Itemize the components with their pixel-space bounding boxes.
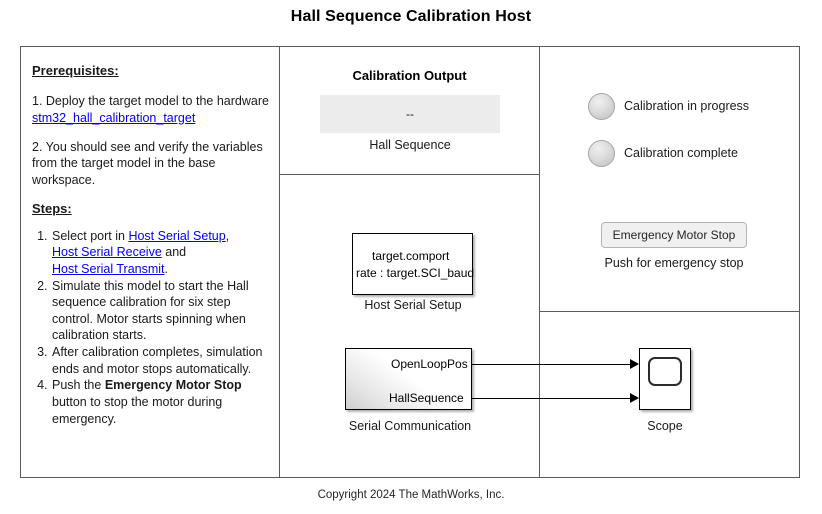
serial-communication-port-hallsequence: HallSequence bbox=[389, 391, 464, 405]
lamp-calibration-complete-label: Calibration complete bbox=[624, 146, 738, 160]
host-serial-setup-link[interactable]: Host Serial Setup bbox=[128, 229, 225, 243]
serial-communication-port-openloop: OpenLoopPos bbox=[391, 357, 468, 371]
lamp-calibration-in-progress bbox=[588, 93, 615, 120]
host-serial-transmit-link[interactable]: Host Serial Transmit bbox=[52, 262, 165, 276]
steps-heading: Steps: bbox=[32, 200, 72, 217]
signal-line-openloop bbox=[472, 364, 631, 365]
host-serial-setup-port-text: target.comport bbox=[372, 249, 449, 263]
signal-arrow-hallsequence-icon bbox=[630, 393, 639, 403]
target-model-link[interactable]: stm32_hall_calibration_target bbox=[32, 111, 195, 125]
serial-communication-label: Serial Communication bbox=[330, 419, 490, 433]
instructions-panel: Prerequisites: 1. Deploy the target mode… bbox=[32, 62, 270, 427]
prerequisite-item-2: 2. You should see and verify the variabl… bbox=[32, 139, 270, 189]
calibration-host-canvas: Hall Sequence Calibration Host Prerequis… bbox=[0, 0, 822, 514]
lamp-calibration-in-progress-label: Calibration in progress bbox=[624, 99, 749, 113]
prerequisite-item-1: 1. Deploy the target model to the hardwa… bbox=[32, 93, 270, 126]
right-panel-divider bbox=[539, 311, 800, 312]
step-1-mid-2: and bbox=[162, 245, 186, 259]
prerequisites-heading: Prerequisites: bbox=[32, 62, 119, 79]
step-4-prefix: Push the bbox=[52, 378, 105, 392]
lamp-calibration-complete bbox=[588, 140, 615, 167]
step-1-mid-1: , bbox=[226, 229, 229, 243]
hall-sequence-display: -- bbox=[320, 95, 500, 133]
step-item-3: After calibration completes, simulation … bbox=[51, 344, 270, 377]
step-item-2: Simulate this model to start the Hall se… bbox=[51, 278, 270, 345]
middle-panel-divider bbox=[279, 174, 540, 175]
page-title: Hall Sequence Calibration Host bbox=[0, 8, 822, 26]
calibration-output-title: Calibration Output bbox=[280, 68, 539, 83]
copyright-footer: Copyright 2024 The MathWorks, Inc. bbox=[0, 489, 822, 501]
step-item-1: Select port in Host Serial Setup, Host S… bbox=[51, 228, 270, 278]
signal-line-hallsequence bbox=[472, 398, 631, 399]
signal-arrow-openloop-icon bbox=[630, 359, 639, 369]
host-serial-receive-link[interactable]: Host Serial Receive bbox=[52, 245, 162, 259]
panel-divider-left bbox=[279, 46, 280, 478]
scope-label: Scope bbox=[625, 419, 705, 433]
host-serial-setup-block[interactable] bbox=[352, 233, 473, 295]
panel-divider-right bbox=[539, 46, 540, 478]
emergency-motor-stop-button[interactable]: Emergency Motor Stop bbox=[601, 222, 747, 248]
step-1-suffix: . bbox=[165, 262, 168, 276]
hall-sequence-display-label: Hall Sequence bbox=[320, 138, 500, 152]
steps-heading-wrap: Steps: bbox=[32, 200, 270, 219]
host-serial-setup-baud-text: rate : target.SCI_baud bbox=[356, 266, 474, 280]
scope-screen-icon bbox=[648, 357, 682, 386]
emergency-motor-stop-caption: Push for emergency stop bbox=[571, 256, 777, 270]
host-serial-setup-label: Host Serial Setup bbox=[333, 298, 493, 312]
steps-list: Select port in Host Serial Setup, Host S… bbox=[32, 228, 270, 428]
step-item-4: Push the Emergency Motor Stop button to … bbox=[51, 377, 270, 427]
prerequisites-heading-wrap: Prerequisites: bbox=[32, 62, 270, 81]
step-1-prefix: Select port in bbox=[52, 229, 128, 243]
step-4-suffix: button to stop the motor during emergenc… bbox=[52, 395, 222, 426]
step-4-emphasis: Emergency Motor Stop bbox=[105, 378, 242, 392]
prerequisite-1-text: 1. Deploy the target model to the hardwa… bbox=[32, 94, 269, 108]
